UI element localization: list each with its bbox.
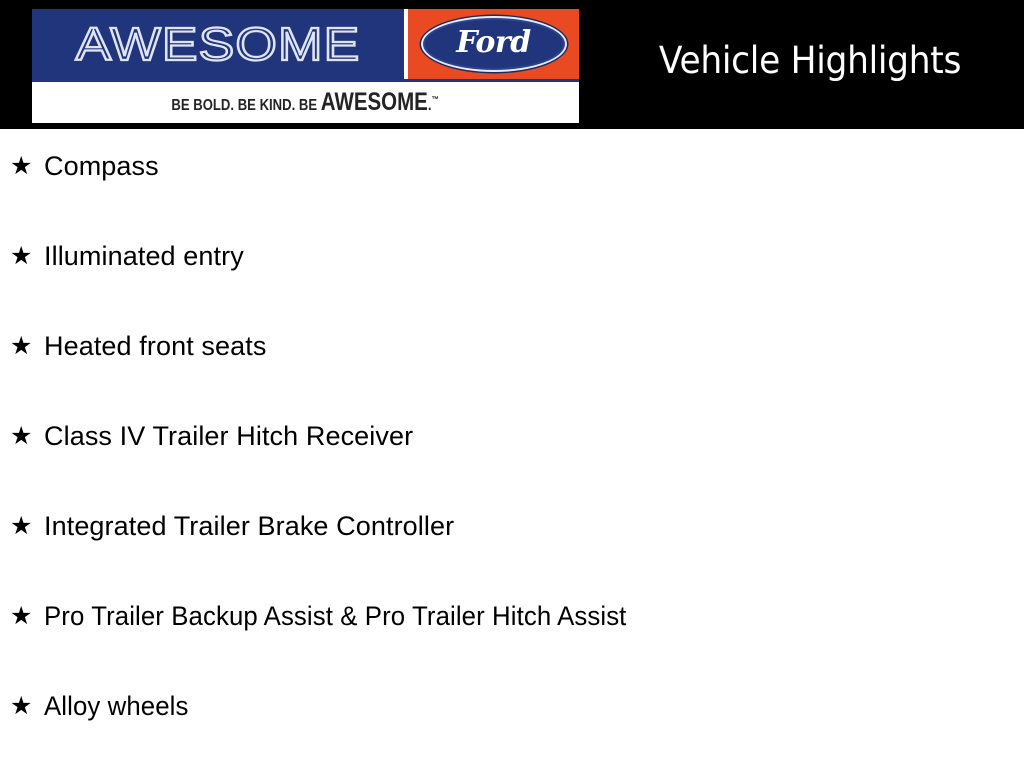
star-icon: ★	[10, 327, 44, 365]
star-icon: ★	[10, 597, 44, 635]
vehicle-highlights-list: ★ Compass ★ Illuminated entry ★ Heated f…	[0, 129, 1024, 768]
star-icon: ★	[10, 417, 44, 455]
logo-tagline: BE BOLD. BE KIND. BE AWESOME.™	[172, 90, 440, 115]
star-icon: ★	[10, 237, 44, 275]
logo-awesome-panel: AWESOME	[32, 9, 404, 79]
list-item: ★ Illuminated entry	[0, 237, 1024, 327]
logo-trademark-symbol: ™	[432, 95, 439, 105]
logo-top-row: AWESOME Ford	[32, 9, 579, 79]
logo-tagline-strip: BE BOLD. BE KIND. BE AWESOME.™	[32, 82, 579, 123]
list-item: ★ Alloy wheels	[0, 687, 1024, 768]
list-item-label: Class IV Trailer Hitch Receiver	[44, 417, 413, 455]
list-item: ★ Class IV Trailer Hitch Receiver	[0, 417, 1024, 507]
star-icon: ★	[10, 507, 44, 545]
star-icon: ★	[10, 687, 44, 725]
logo-brand-wordmark: AWESOME	[76, 21, 361, 67]
list-item: ★ Heated front seats	[0, 327, 1024, 417]
list-item-label: Illuminated entry	[44, 237, 244, 275]
list-item: ★ Pro Trailer Backup Assist & Pro Traile…	[0, 597, 1024, 687]
list-item-label: Alloy wheels	[44, 687, 188, 725]
logo-ford-panel: Ford	[408, 9, 579, 79]
logo-tagline-emphasis: AWESOME	[321, 88, 428, 116]
ford-wordmark: Ford	[456, 28, 530, 58]
star-icon: ★	[10, 147, 44, 185]
list-item-label: Integrated Trailer Brake Controller	[44, 507, 454, 545]
page-title: Vehicle Highlights	[624, 41, 996, 82]
list-item-label: Pro Trailer Backup Assist & Pro Trailer …	[44, 597, 626, 635]
list-item: ★ Compass	[0, 147, 1024, 237]
list-item: ★ Integrated Trailer Brake Controller	[0, 507, 1024, 597]
logo-tagline-lead: BE BOLD. BE KIND. BE	[172, 97, 321, 114]
list-item-label: Compass	[44, 147, 159, 185]
header-bar: AWESOME Ford BE BOLD. BE KIND. BE AWESOM…	[0, 0, 1024, 129]
dealer-logo: AWESOME Ford BE BOLD. BE KIND. BE AWESOM…	[32, 9, 579, 123]
list-item-label: Heated front seats	[44, 327, 266, 365]
ford-oval-icon: Ford	[421, 16, 567, 72]
